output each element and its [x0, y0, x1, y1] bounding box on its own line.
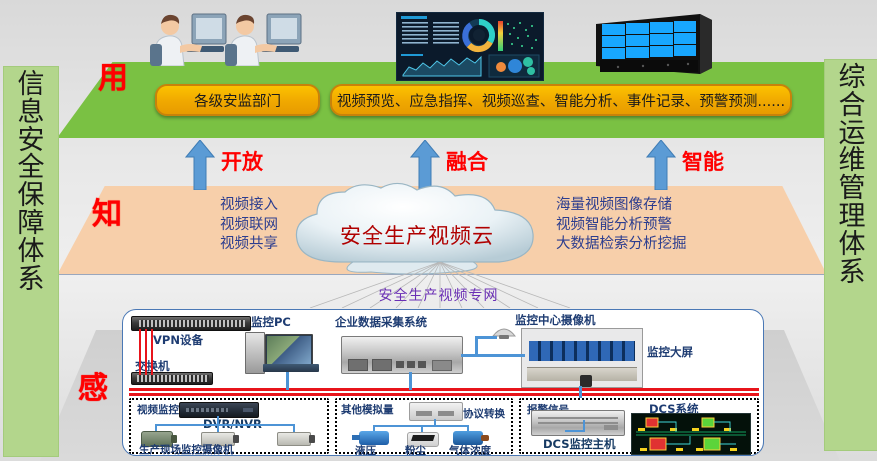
keyboard-icon: [263, 364, 319, 372]
layer-marker-use: 用: [98, 64, 128, 94]
architecture-diagram: 用 知 感 各级安监部门 视频预览、应急指挥、视频巡查、智能分析、事件记录、预警…: [0, 0, 877, 461]
dvr-nvr-icon: [179, 402, 259, 418]
dcs-screen-photo: [631, 413, 751, 455]
dashboard-screen: [396, 12, 544, 81]
pillar-left-char-6: 体: [18, 238, 45, 266]
dcs-host-label: DCS监控主机: [543, 436, 615, 452]
pillar-right-char-7: 系: [839, 259, 866, 287]
dcs-host-icon: [531, 410, 625, 436]
link-camera-drop: [475, 336, 478, 356]
box-video-title: 视频监控: [137, 402, 179, 417]
pillar-left-char-3: 全: [18, 154, 45, 182]
uplink-red-2: [145, 329, 147, 375]
pillar-left-char-5: 障: [18, 210, 45, 238]
uplink-red-3: [151, 329, 153, 375]
bus-line-red-2: [129, 393, 759, 396]
pillar-right-char-3: 维: [839, 147, 866, 175]
video-wall-illustration: [588, 10, 716, 78]
link-server-camera: [461, 354, 525, 357]
uplink-red-1: [139, 329, 141, 375]
pc-tower-icon: [245, 332, 265, 374]
pillar-right-char-4: 管: [839, 175, 866, 203]
arrow-label-merge: 融合: [446, 152, 488, 173]
pillar-left-char-7: 系: [18, 266, 45, 294]
pillar-right-char-0: 综: [839, 64, 866, 92]
sensor-label-1: 粉尘: [405, 443, 426, 456]
cloud-title: 安全生产视频云: [283, 220, 551, 250]
pc-monitor-icon: [265, 334, 313, 366]
arrow-label-smart: 智能: [682, 152, 724, 173]
pillar-right-char-2: 运: [839, 120, 866, 148]
vpn-device-label: VPN设备: [153, 332, 203, 348]
infrastructure-panel: VPN设备 交换机 监控PC 企业数据采集系统 监控中心摄像机: [122, 309, 764, 456]
cloud-left-items: 视频接入 视频联网 视频共享: [128, 196, 278, 255]
box1-bus: [155, 424, 295, 426]
cloud-right-item-0: 海量视频图像存储: [556, 196, 776, 216]
pillar-operations-management: 综 合 运 维 管 理 体 系: [824, 59, 877, 451]
pillar-right-char-1: 合: [839, 92, 866, 120]
center-camera-label: 监控中心摄像机: [515, 312, 596, 328]
box-video-monitoring: 视频监控 DVR/NVR 生产现场监控摄像机: [129, 398, 329, 454]
protocol-converter-label: 协议转换: [463, 406, 505, 421]
pillar-right-char-6: 体: [839, 231, 866, 259]
link-wall-bus: [579, 386, 582, 398]
arrow-smart-icon: [646, 140, 676, 190]
sensor-label-0: 液压: [355, 443, 376, 456]
link-pc-bus: [286, 372, 289, 390]
cloud-left-item-0: 视频接入: [128, 196, 278, 216]
cloud-right-item-2: 大数据检索分析挖掘: [556, 235, 776, 255]
pillar-left-char-4: 保: [18, 182, 45, 210]
cloud-right-items: 海量视频图像存储 视频智能分析预警 大数据检索分析挖掘: [556, 196, 776, 255]
box-dcs: 报警信号 DCS监控主机 DCS系统: [519, 398, 759, 454]
pillar-information-security: 信 息 安 全 保 障 体 系: [3, 66, 59, 457]
protocol-converter-icon: [409, 402, 463, 421]
sensor-label-2: 气体浓度: [449, 443, 491, 456]
vpn-device-icon: [131, 316, 251, 331]
cloud-left-item-1: 视频联网: [128, 216, 278, 236]
bus-line-red-1: [129, 388, 759, 391]
pillar-left-char-0: 信: [18, 71, 45, 99]
layer-marker-sense: 感: [78, 374, 108, 404]
box-video-caption: 生产现场监控摄像机: [139, 442, 234, 456]
functions-button[interactable]: 视频预览、应急指挥、视频巡查、智能分析、事件记录、预警预测......: [330, 84, 792, 116]
box-analog-title: 其他模拟量: [341, 402, 394, 417]
layer-marker-know: 知: [92, 200, 122, 230]
pillar-left-char-1: 息: [18, 99, 45, 127]
arrow-open-icon: [185, 140, 215, 190]
private-network-label: 安全生产视频专网: [0, 285, 877, 305]
box-camera-icon-2: [277, 432, 311, 446]
operator-illustration-2: [225, 8, 305, 66]
link-server-bus: [409, 372, 412, 390]
monitor-pc-label: 监控PC: [251, 314, 291, 330]
arrow-label-open: 开放: [221, 152, 263, 173]
data-collection-server-icon: [341, 336, 463, 374]
operator-illustration-1: [150, 8, 230, 66]
big-screen-label: 监控大屏: [647, 344, 693, 360]
cloud-left-item-2: 视频共享: [128, 235, 278, 255]
box-analog-signals: 其他模拟量 协议转换 液压 粉尘 气体浓度: [335, 398, 513, 454]
data-collection-label: 企业数据采集系统: [335, 314, 427, 330]
department-button[interactable]: 各级安监部门: [155, 84, 320, 116]
pillar-right-char-5: 理: [839, 203, 866, 231]
link-camera-top: [475, 336, 497, 339]
control-room-photo: [521, 328, 643, 388]
cloud-right-item-1: 视频智能分析预警: [556, 216, 776, 236]
pillar-left-char-2: 安: [18, 127, 45, 155]
